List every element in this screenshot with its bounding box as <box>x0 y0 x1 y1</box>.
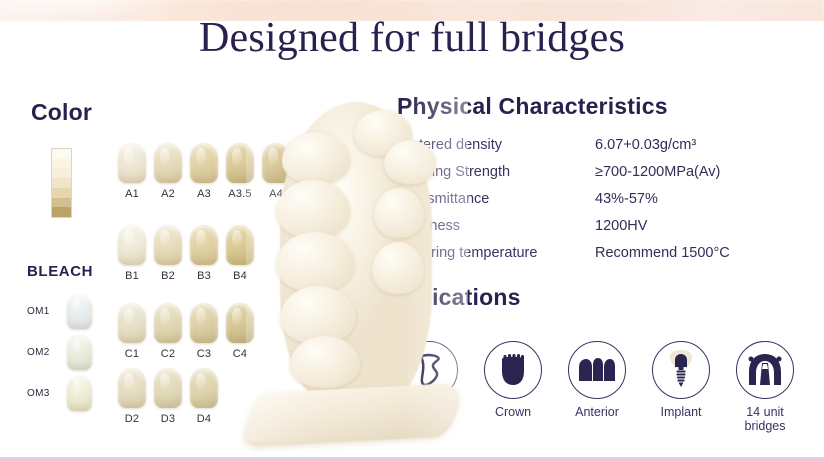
spec-row: Hardness 1200HV <box>398 218 798 245</box>
indication-circle <box>568 341 626 399</box>
color-section-heading: Color <box>31 99 92 126</box>
bleach-tooth-om3 <box>67 376 92 411</box>
crown-icon <box>499 354 527 387</box>
tooth-swatch <box>190 303 218 343</box>
arch-tooth-lobe <box>276 232 354 292</box>
shade-label: C3 <box>197 348 211 360</box>
shade-chip-b3: B3 <box>190 225 218 282</box>
indication-circle <box>484 341 542 399</box>
indications-heading: Indications <box>397 284 521 311</box>
spec-key: Sintered density <box>398 137 595 153</box>
physical-characteristics-table: Sintered density 6.07+0.03g/cm³ Bending … <box>398 137 798 272</box>
indication-circle <box>400 341 458 399</box>
arch-tooth-lobe <box>280 286 356 344</box>
shade-chip-c4: C4 <box>226 303 254 360</box>
shade-label: B4 <box>233 270 247 282</box>
spec-value: Recommend 1500°C <box>595 245 730 261</box>
tooth-swatch <box>226 225 254 265</box>
bleach-label: OM1 <box>27 306 53 317</box>
bleach-label: OM3 <box>27 388 53 399</box>
shade-chip-c2: C2 <box>154 303 182 360</box>
indication-item-implant: Implant <box>648 341 714 433</box>
shade-label: D4 <box>197 413 211 425</box>
spec-value: 43%-57% <box>595 191 658 207</box>
spec-value: 6.07+0.03g/cm³ <box>595 137 696 153</box>
shade-row-d: D2 D3 D4 <box>118 368 218 425</box>
anterior-teeth-icon <box>578 358 616 382</box>
bleach-item-om2: OM2 <box>27 335 92 370</box>
spec-key: Transmittance <box>398 191 595 207</box>
shade-gradient-strip <box>51 148 72 218</box>
spec-key: Bending Strength <box>398 164 595 180</box>
tooth-swatch <box>154 303 182 343</box>
spec-key: Sintering temperature <box>398 245 595 261</box>
shade-label: C2 <box>161 348 175 360</box>
indication-label: Crown <box>495 405 531 419</box>
shade-row-b: B1 B2 B3 B4 <box>118 225 254 282</box>
shade-chip-a1: A1 <box>118 143 146 200</box>
spec-key: Hardness <box>398 218 595 234</box>
tooth-swatch <box>190 225 218 265</box>
tooth-swatch <box>190 143 218 183</box>
tooth-swatch <box>190 368 218 408</box>
shade-label: B2 <box>161 270 175 282</box>
shade-label: A1 <box>125 188 139 200</box>
shade-chip-d4: D4 <box>190 368 218 425</box>
indication-item-anterior: Anterior <box>564 341 630 433</box>
shade-row-c: C1 C2 C3 C4 <box>118 303 254 360</box>
bleach-label: OM2 <box>27 347 53 358</box>
shade-chip-b1: B1 <box>118 225 146 282</box>
veneer-tooth-outline-icon <box>416 353 442 387</box>
shade-label: A4 <box>269 188 283 200</box>
bleach-section-heading: BLEACH <box>27 263 93 280</box>
indication-label: Veneer <box>409 405 449 419</box>
tooth-swatch <box>262 143 290 183</box>
indication-circle <box>736 341 794 399</box>
tooth-swatch <box>118 143 146 183</box>
indication-label: 14 unit bridges <box>745 405 786 433</box>
shade-chip-a35: A3.5 <box>226 143 254 200</box>
bleach-item-om1: OM1 <box>27 294 92 329</box>
shade-chip-a2: A2 <box>154 143 182 200</box>
shade-label: A3 <box>197 188 211 200</box>
indications-list: Veneer Crown <box>396 341 816 433</box>
product-spec-page: Designed for full bridges Color BLEACH O… <box>0 0 824 459</box>
indication-circle <box>652 341 710 399</box>
shade-label: D2 <box>125 413 139 425</box>
shade-label: B1 <box>125 270 139 282</box>
shade-chip-c3: C3 <box>190 303 218 360</box>
spec-row: Bending Strength ≥700-1200MPa(Av) <box>398 164 798 191</box>
shade-label: C1 <box>125 348 139 360</box>
tooth-swatch <box>118 368 146 408</box>
implant-screw-icon <box>668 349 694 391</box>
indication-item-crown: Crown <box>480 341 546 433</box>
indication-item-veneer: Veneer <box>396 341 462 433</box>
shade-chip-b4: B4 <box>226 225 254 282</box>
shade-chip-b2: B2 <box>154 225 182 282</box>
tooth-swatch <box>118 225 146 265</box>
tooth-swatch <box>226 303 254 343</box>
shade-chip-a4: A4 <box>262 143 290 200</box>
spec-value: 1200HV <box>595 218 647 234</box>
shade-label: A2 <box>161 188 175 200</box>
shade-chip-d3: D3 <box>154 368 182 425</box>
shade-chip-d2: D2 <box>118 368 146 425</box>
bleach-tooth-om1 <box>67 294 92 329</box>
tooth-swatch <box>154 225 182 265</box>
indication-label: Implant <box>661 405 702 419</box>
arch-tooth-lobe <box>282 132 350 184</box>
shade-label: C4 <box>233 348 247 360</box>
shade-chip-a3: A3 <box>190 143 218 200</box>
tooth-swatch <box>154 368 182 408</box>
arch-tooth-lobe <box>290 336 360 388</box>
full-arch-bridge-icon <box>748 353 782 387</box>
indication-item-14-unit-bridges: 14 unit bridges <box>732 341 798 433</box>
tooth-swatch <box>226 143 254 183</box>
spec-row: Sintering temperature Recommend 1500°C <box>398 245 798 272</box>
spec-value: ≥700-1200MPa(Av) <box>595 164 720 180</box>
tooth-swatch <box>154 143 182 183</box>
shade-label: D3 <box>161 413 175 425</box>
page-title: Designed for full bridges <box>0 14 824 62</box>
tooth-swatch <box>118 303 146 343</box>
shade-chip-c1: C1 <box>118 303 146 360</box>
bleach-item-om3: OM3 <box>27 376 92 411</box>
shade-label: B3 <box>197 270 211 282</box>
shade-row-a: A1 A2 A3 A3.5 A4 <box>118 143 290 200</box>
indication-label: Anterior <box>575 405 619 419</box>
shade-label: A3.5 <box>228 188 251 200</box>
physical-characteristics-heading: Physical Characteristics <box>397 93 668 120</box>
bleach-tooth-om2 <box>67 335 92 370</box>
spec-row: Transmittance 43%-57% <box>398 191 798 218</box>
spec-row: Sintered density 6.07+0.03g/cm³ <box>398 137 798 164</box>
